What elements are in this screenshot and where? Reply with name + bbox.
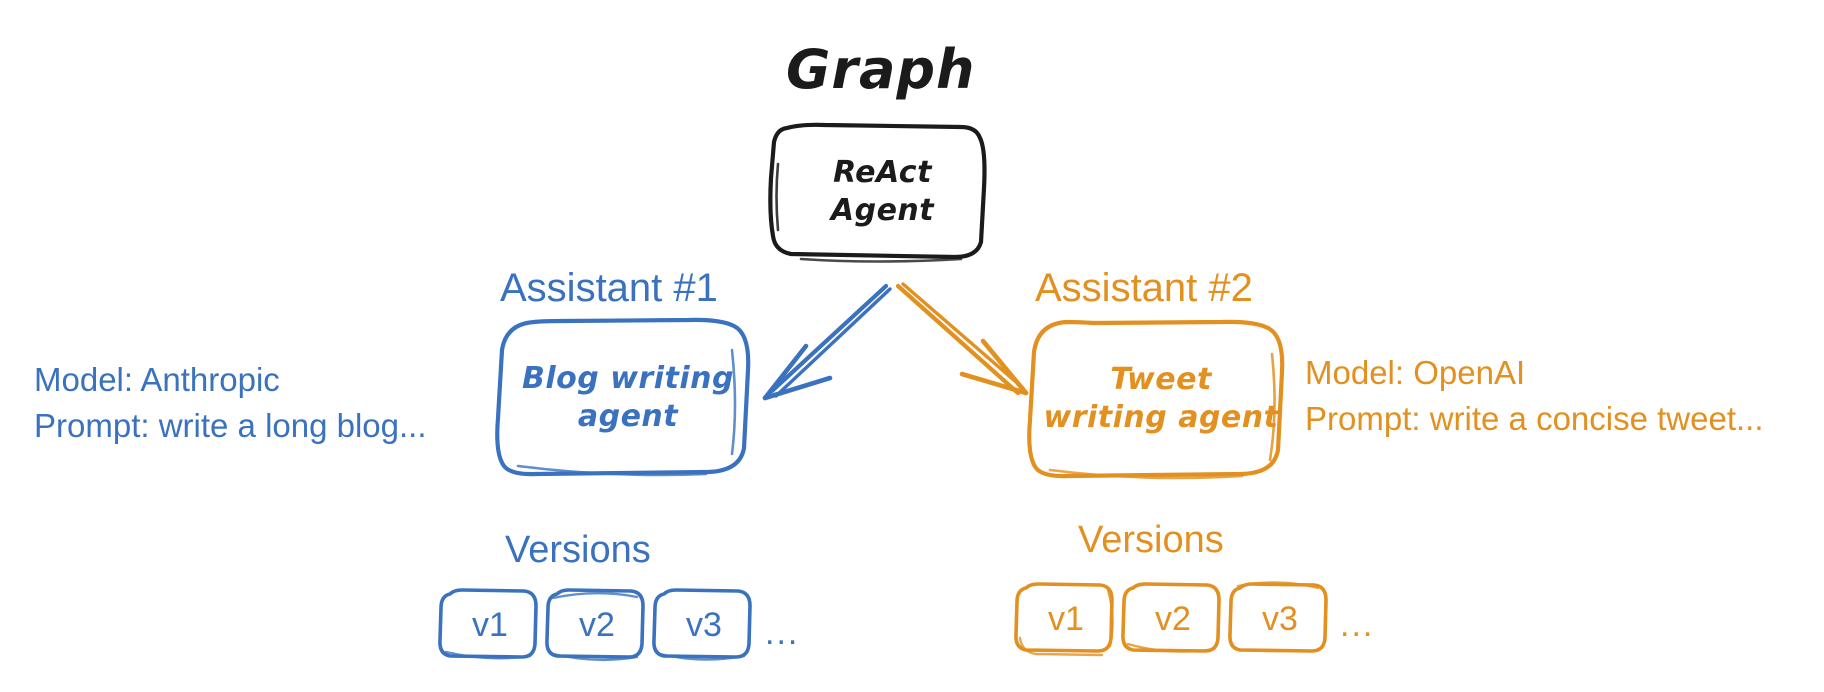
edge-graph-to-assistant-1 — [765, 286, 890, 398]
edge-graph-to-assistant-2 — [898, 284, 1026, 393]
assistant-2-meta: Model: OpenAI Prompt: write a concise tw… — [1305, 350, 1764, 441]
assistant-2-version-v3[interactable]: v3 — [1230, 584, 1330, 654]
assistant-1-versions-heading: Versions — [505, 531, 651, 569]
assistant-2-version-v2[interactable]: v2 — [1123, 584, 1223, 654]
assistant-2-node[interactable]: Tweet writing agent — [1022, 314, 1300, 484]
assistant-1-version-v2-label: v2 — [579, 608, 615, 642]
assistant-2-versions-heading: Versions — [1078, 521, 1224, 559]
assistant-1-versions-more[interactable]: ... — [765, 616, 799, 650]
assistant-2-version-v1-label: v1 — [1048, 602, 1084, 636]
assistant-1-node[interactable]: Blog writing agent — [492, 314, 764, 482]
assistant-1-version-v1-label: v1 — [472, 608, 508, 642]
assistant-2-heading: Assistant #2 — [1035, 268, 1253, 308]
assistant-1-version-v3-label: v3 — [686, 608, 722, 642]
assistant-2-version-v2-label: v2 — [1155, 602, 1191, 636]
assistant-1-heading: Assistant #1 — [500, 268, 718, 308]
assistant-2-node-label: Tweet writing agent — [1044, 361, 1279, 438]
assistant-2-version-v1[interactable]: v1 — [1016, 584, 1116, 654]
assistant-1-node-label: Blog writing agent — [522, 360, 734, 437]
assistant-1-meta: Model: Anthropic Prompt: write a long bl… — [34, 357, 427, 448]
assistant-2-version-v3-label: v3 — [1262, 602, 1298, 636]
assistant-1-version-v2[interactable]: v2 — [547, 590, 647, 660]
assistant-2-versions-more[interactable]: ... — [1340, 608, 1374, 642]
assistant-1-version-v1[interactable]: v1 — [440, 590, 540, 660]
assistant-1-version-v3[interactable]: v3 — [654, 590, 754, 660]
diagram-canvas: Graph ReAct Agent Assistant #1 Blo — [0, 0, 1824, 692]
edges-layer — [0, 0, 1824, 692]
